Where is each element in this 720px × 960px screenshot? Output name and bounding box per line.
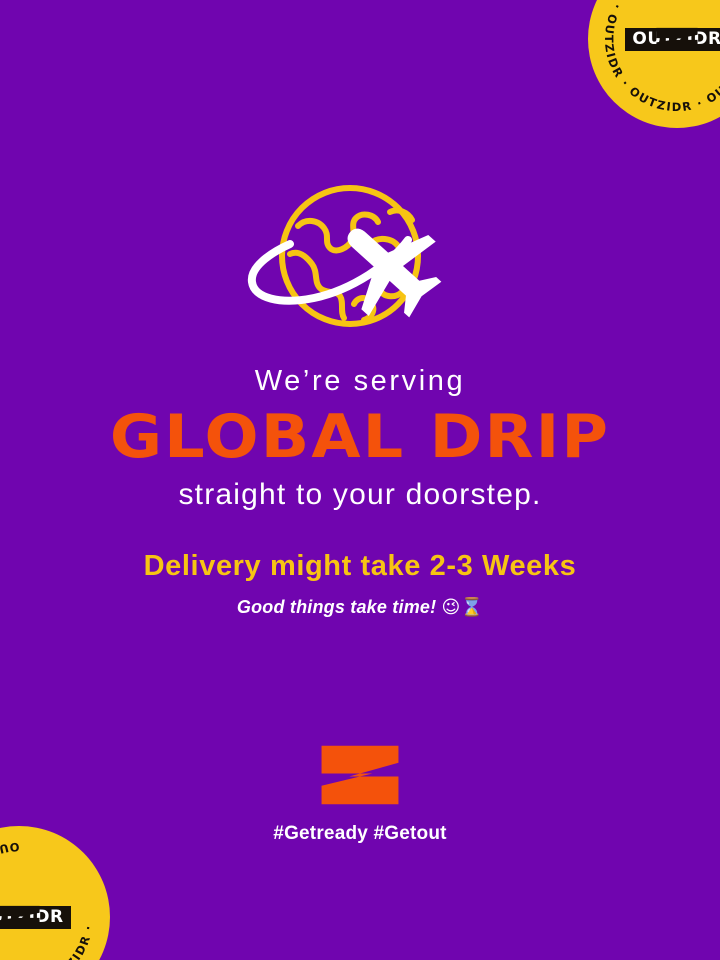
brand-footer: #Getready #Getout [0, 744, 720, 846]
headline-subtitle: straight to your doorstep. [0, 476, 720, 514]
outzidr-z-logo-icon [320, 744, 400, 806]
seal-rim-label-top-right: OUTZIDR · OUTZIDR · OUTZIDR · OUTZIDR · [602, 0, 720, 114]
outzidr-seal-bottom-left: OUTZIDR · OUTZIDR · OUTZIDR · OUTZIDR · … [0, 826, 110, 960]
delivery-headline: Delivery might take 2-3 Weeks [0, 549, 720, 583]
seal-rim-label-bottom-left: OUTZIDR · OUTZIDR · OUTZIDR · OUTZIDR · [0, 840, 96, 960]
delivery-subnote: Good things take time! 😉⌛ [0, 595, 720, 620]
seal-core-top-right: OUTZIDR [625, 27, 720, 51]
outzidr-z-icon [625, 27, 720, 51]
outzidr-seal-top-right: OUTZIDR · OUTZIDR · OUTZIDR · OUTZIDR · … [588, 0, 720, 128]
headline-block: We’re serving GLOBAL DRIP straight to yo… [0, 363, 720, 514]
headline-eyebrow: We’re serving [0, 363, 720, 399]
globe-with-airplane-icon [240, 178, 480, 348]
brand-hashtags: #Getready #Getout [0, 822, 720, 846]
page-title: GLOBAL DRIP [0, 406, 720, 468]
wink-hourglass-emoji: 😉⌛ [442, 597, 484, 618]
promo-poster: OUTZIDR · OUTZIDR · OUTZIDR · OUTZIDR · … [0, 0, 720, 960]
outzidr-z-icon [0, 905, 71, 929]
delivery-notice: Delivery might take 2-3 Weeks Good thing… [0, 549, 720, 620]
seal-rim-top-right: OUTZIDR · OUTZIDR · OUTZIDR · OUTZIDR · [588, 0, 720, 128]
seal-core-bottom-left: OUTZIDR [0, 905, 71, 929]
seal-rim-bottom-left: OUTZIDR · OUTZIDR · OUTZIDR · OUTZIDR · [0, 826, 110, 960]
delivery-subnote-text: Good things take time! [237, 597, 436, 617]
